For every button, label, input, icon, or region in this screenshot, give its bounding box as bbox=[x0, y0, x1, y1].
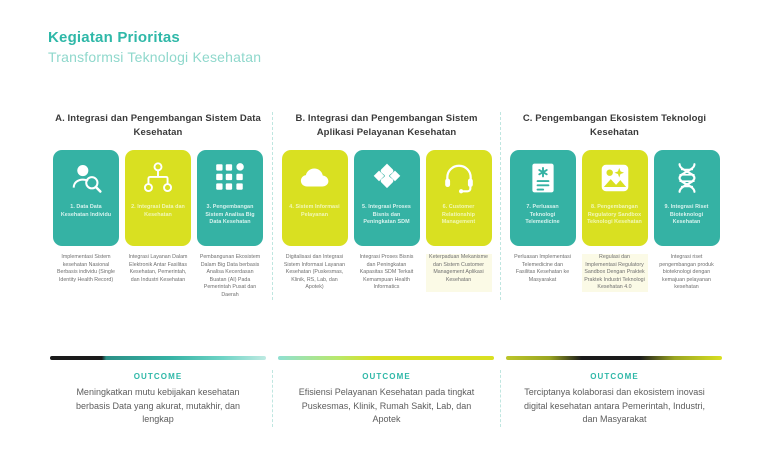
outcomes-container: OUTCOME Meningkatkan mutu kebijakan kese… bbox=[44, 370, 728, 427]
card-4[interactable]: 4. Sistem Informasi Pelayanan bbox=[282, 150, 348, 246]
puzzle-diamond-icon bbox=[370, 161, 404, 195]
document-health-icon bbox=[526, 161, 560, 195]
outcome-c: OUTCOME Terciptanya kolaborasi dan ekosi… bbox=[500, 370, 728, 427]
page-subtitle: Transformsi Teknologi Kesehatan bbox=[48, 48, 261, 67]
column-a-heading: A. Integrasi dan Pengembangan Sistem Dat… bbox=[48, 112, 268, 144]
card-6[interactable]: 6. Customer Relationship Management bbox=[426, 150, 492, 246]
card-5[interactable]: 5. Integrasi Proses Bisnis dan Peningkat… bbox=[354, 150, 420, 246]
description-8: Regulasi dan Implementasi Regulatory San… bbox=[582, 254, 648, 292]
column-c: C. Pengembangan Ekosistem Teknologi Kese… bbox=[500, 112, 728, 300]
description-4: Digitalisasi dan Integrasi Sistem Inform… bbox=[282, 254, 348, 292]
column-b-descriptions: Digitalisasi dan Integrasi Sistem Inform… bbox=[277, 254, 496, 292]
column-c-cards: 7. Perluasan Teknologi Telemedicine 8. P… bbox=[505, 150, 724, 246]
columns-container: A. Integrasi dan Pengembangan Sistem Dat… bbox=[44, 112, 728, 300]
outcome-c-text: Terciptanya kolaborasi dan ekosistem ino… bbox=[517, 386, 712, 427]
header: Kegiatan Prioritas Transformsi Teknologi… bbox=[48, 28, 261, 67]
divider-bar-b bbox=[278, 356, 494, 360]
column-c-heading: C. Pengembangan Ekosistem Teknologi Kese… bbox=[505, 112, 724, 144]
column-b-cards: 4. Sistem Informasi Pelayanan 5. Integra… bbox=[277, 150, 496, 246]
card-1-label: 1. Data Data Kesehatan Individu bbox=[53, 204, 119, 219]
card-5-label: 5. Integrasi Proses Bisnis dan Peningkat… bbox=[354, 204, 420, 227]
card-7[interactable]: 7. Perluasan Teknologi Telemedicine bbox=[510, 150, 576, 246]
card-9-label: 9. Integrasi Riset Bioteknologi Kesehata… bbox=[654, 204, 720, 227]
divider-bar-c-wrap bbox=[500, 356, 728, 360]
outcome-b-title: OUTCOME bbox=[289, 370, 484, 384]
column-a-cards: 1. Data Data Kesehatan Individu 2. Integ… bbox=[48, 150, 268, 246]
divider-bar-c bbox=[506, 356, 722, 360]
outcome-a: OUTCOME Meningkatkan mutu kebijakan kese… bbox=[44, 370, 272, 427]
card-8[interactable]: 8. Pengembangan Regulatory Sandbox Tekno… bbox=[582, 150, 648, 246]
divider-bar-b-wrap bbox=[272, 356, 500, 360]
column-a: A. Integrasi dan Pengembangan Sistem Dat… bbox=[44, 112, 272, 300]
column-a-descriptions: Implementasi Sistem kesehatan Nasional B… bbox=[48, 254, 268, 300]
description-5: Integrasi Proses Bisnis dan Peningkatan … bbox=[354, 254, 420, 292]
image-innovation-icon bbox=[598, 161, 632, 195]
card-4-label: 4. Sistem Informasi Pelayanan bbox=[282, 204, 348, 219]
cloud-icon bbox=[298, 161, 332, 195]
outcome-b: OUTCOME Efisiensi Pelayanan Kesehatan pa… bbox=[272, 370, 500, 427]
description-2: Integrasi Layanan Dalam Elektronik Antar… bbox=[125, 254, 191, 300]
infographic-canvas: Kegiatan Prioritas Transformsi Teknologi… bbox=[0, 0, 768, 452]
divider-bars bbox=[44, 356, 728, 360]
description-1: Implementasi Sistem kesehatan Nasional B… bbox=[53, 254, 119, 300]
card-3[interactable]: 3. Pengembangan Sistem Analisa Big Data … bbox=[197, 150, 263, 246]
outcome-a-text: Meningkatkan mutu kebijakan kesehatan be… bbox=[60, 386, 256, 427]
column-c-descriptions: Perluasan Implementasi Telemedicine dan … bbox=[505, 254, 724, 292]
description-7: Perluasan Implementasi Telemedicine dan … bbox=[510, 254, 576, 292]
description-3: Pembangunan Ekosistem Dalam Big Data ber… bbox=[197, 254, 263, 300]
share-nodes-icon bbox=[141, 161, 175, 195]
card-2[interactable]: 2. Integrasi Data dan Kesehatan bbox=[125, 150, 191, 246]
card-6-label: 6. Customer Relationship Management bbox=[426, 204, 492, 227]
headset-icon bbox=[442, 161, 476, 195]
divider-bar-a-wrap bbox=[44, 356, 272, 360]
grid-blocks-icon bbox=[213, 161, 247, 195]
column-b: B. Integrasi dan Pengembangan Sistem Apl… bbox=[272, 112, 500, 300]
card-7-label: 7. Perluasan Teknologi Telemedicine bbox=[510, 204, 576, 227]
card-9[interactable]: 9. Integrasi Riset Bioteknologi Kesehata… bbox=[654, 150, 720, 246]
card-8-label: 8. Pengembangan Regulatory Sandbox Tekno… bbox=[582, 204, 648, 227]
card-3-label: 3. Pengembangan Sistem Analisa Big Data … bbox=[197, 204, 263, 227]
outcome-a-title: OUTCOME bbox=[60, 370, 256, 384]
description-9: Integrasi riset pengembangan produk biot… bbox=[654, 254, 720, 292]
outcome-c-title: OUTCOME bbox=[517, 370, 712, 384]
outcome-b-text: Efisiensi Pelayanan Kesehatan pada tingk… bbox=[289, 386, 484, 427]
user-search-icon bbox=[69, 161, 103, 195]
page-title: Kegiatan Prioritas bbox=[48, 28, 261, 47]
card-1[interactable]: 1. Data Data Kesehatan Individu bbox=[53, 150, 119, 246]
dna-icon bbox=[670, 161, 704, 195]
card-2-label: 2. Integrasi Data dan Kesehatan bbox=[125, 204, 191, 219]
column-b-heading: B. Integrasi dan Pengembangan Sistem Apl… bbox=[277, 112, 496, 144]
divider-bar-a bbox=[50, 356, 266, 360]
description-6: Keterpaduan Mekanisme dan Sistem Custome… bbox=[426, 254, 492, 292]
